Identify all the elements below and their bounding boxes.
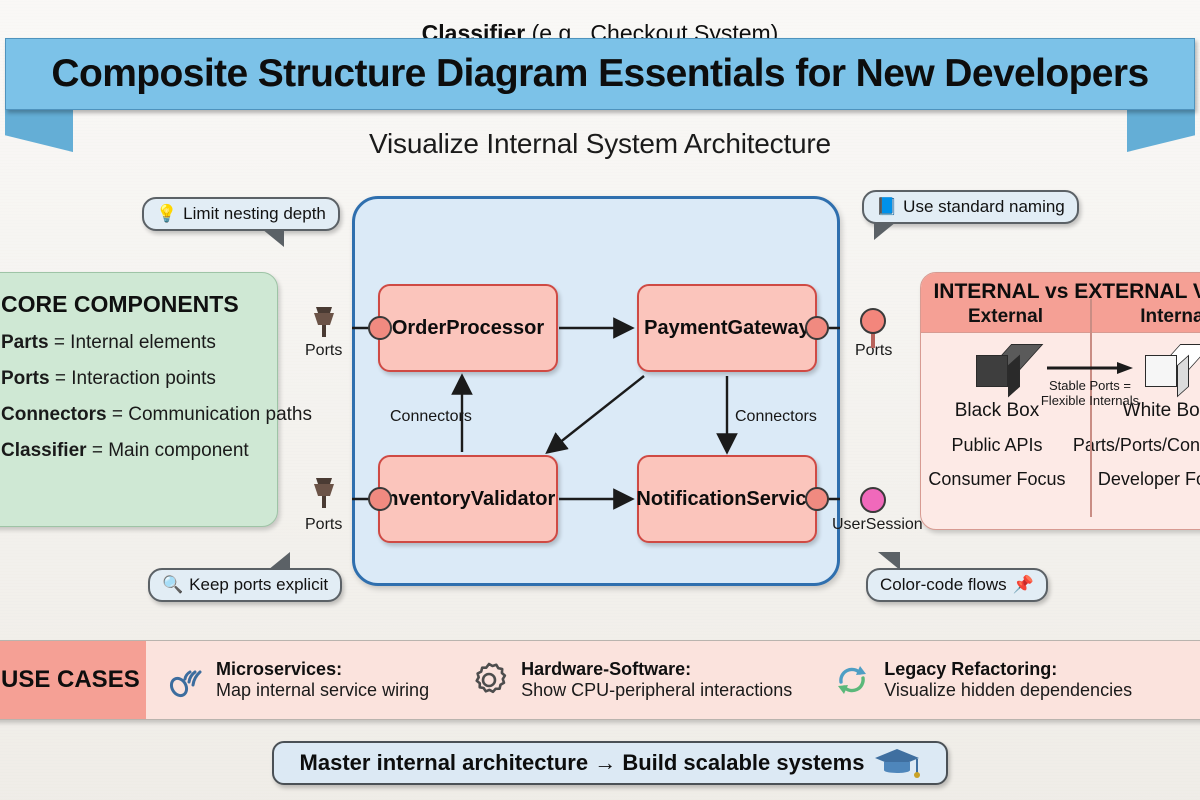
electric-plug-icon	[310, 305, 338, 339]
electric-plug-icon	[310, 476, 338, 510]
core-component-row: Classifier = Main component	[1, 440, 263, 462]
gear-icon	[469, 660, 509, 700]
part-label: InventoryValidator	[381, 488, 556, 511]
use-case-heading: Legacy Refactoring:	[884, 659, 1132, 680]
callout-use-standard-naming[interactable]: 📘 Use standard naming	[862, 190, 1079, 224]
cta-banner[interactable]: Master internal architecture → Build sca…	[272, 741, 948, 785]
core-component-row: Connectors = Communication paths	[1, 404, 263, 426]
use-case-heading: Hardware-Software:	[521, 659, 792, 680]
stable-ports-note-line1: Stable Ports =	[1020, 379, 1160, 394]
callout-color-code-flows[interactable]: Color-code flows 📌	[866, 568, 1048, 602]
push-pin-icon: 📌	[1013, 575, 1034, 595]
external-port-right-top[interactable]	[860, 308, 886, 334]
core-components-panel: CORE COMPONENTS Parts = Internal element…	[0, 272, 278, 527]
page-title: Composite Structure Diagram Essentials f…	[51, 52, 1148, 96]
core-term-parts: Parts	[1, 332, 49, 353]
callout-text: Limit nesting depth	[183, 204, 326, 224]
core-components-title: CORE COMPONENTS	[1, 291, 263, 318]
callout-limit-nesting-depth[interactable]: 💡 Limit nesting depth	[142, 197, 340, 231]
callout-keep-ports-explicit[interactable]: 🔍 Keep ports explicit	[148, 568, 342, 602]
callout-text: Keep ports explicit	[189, 575, 328, 595]
use-case-text: Hardware-Software: Show CPU-peripheral i…	[521, 659, 792, 701]
views-panel-body: Stable Ports = Flexible Internals Black …	[921, 333, 1200, 523]
use-case-subtext: Map internal service wiring	[216, 680, 429, 701]
stable-ports-note-line2: Flexible Internals	[1020, 394, 1160, 409]
part-inventoryvalidator[interactable]: InventoryValidator	[378, 455, 558, 543]
core-term-ports: Ports	[1, 368, 50, 389]
part-notificationservice[interactable]: NotificationService	[637, 455, 817, 543]
use-case-item-hardware-software[interactable]: Hardware-Software: Show CPU-peripheral i…	[469, 659, 792, 701]
magnifier-icon: 🔍	[162, 575, 183, 595]
views-panel-title: INTERNAL vs EXTERNAL VIEW	[921, 280, 1200, 304]
core-def-parts: = Internal elements	[54, 332, 216, 353]
core-def-classifier: = Main component	[92, 440, 249, 461]
callout-text: Color-code flows	[880, 575, 1007, 595]
page-subtitle: Visualize Internal System Architecture	[0, 128, 1200, 160]
core-def-connectors: = Communication paths	[112, 404, 312, 425]
views-heading-external: External	[921, 306, 1090, 328]
core-term-connectors: Connectors	[1, 404, 107, 425]
port-caption-left-bottom: Ports	[305, 516, 342, 534]
port-dot-icon-notificationservice[interactable]	[805, 487, 829, 511]
external-port-usersession[interactable]	[860, 487, 886, 513]
part-label: OrderProcessor	[392, 317, 544, 340]
use-case-item-microservices[interactable]: Microservices: Map internal service wiri…	[164, 659, 429, 701]
core-def-ports: = Interaction points	[55, 368, 216, 389]
recycle-arrows-icon	[832, 660, 872, 700]
cta-text: Master internal architecture → Build sca…	[300, 750, 865, 776]
light-bulb-icon: 💡	[156, 204, 177, 224]
part-label: PaymentGateway	[644, 317, 810, 340]
views-row-external-2: Consumer Focus	[921, 469, 1073, 490]
port-dot-icon-inventoryvalidator[interactable]	[368, 487, 392, 511]
port-caption-usersession: UserSession	[832, 516, 923, 534]
black-box-cube-icon	[974, 345, 1020, 391]
use-cases-label-block: USE CASES	[0, 641, 146, 719]
port-dot-icon-paymentgateway[interactable]	[805, 316, 829, 340]
use-case-subtext: Show CPU-peripheral interactions	[521, 680, 792, 701]
core-component-row: Ports = Interaction points	[1, 368, 263, 390]
internal-external-views-panel: INTERNAL vs EXTERNAL VIEW External Inter…	[920, 272, 1200, 530]
use-case-text: Microservices: Map internal service wiri…	[216, 659, 429, 701]
views-row-internal-2: Developer Focus	[1073, 469, 1200, 490]
open-book-icon: 📘	[876, 197, 897, 217]
stable-ports-arrow-icon	[1045, 361, 1135, 375]
views-column-headings: External Internal	[921, 306, 1200, 328]
use-cases-items: Microservices: Map internal service wiri…	[146, 641, 1200, 719]
port-caption-left-top: Ports	[305, 342, 342, 360]
callout-text: Use standard naming	[903, 197, 1065, 217]
views-heading-internal: Internal	[1090, 306, 1200, 328]
use-cases-bar: USE CASES Microservices: Map internal se…	[0, 640, 1200, 720]
connector-label-left: Connectors	[390, 408, 472, 426]
use-case-item-legacy-refactoring[interactable]: Legacy Refactoring: Visualize hidden dep…	[832, 659, 1132, 701]
part-paymentgateway[interactable]: PaymentGateway	[637, 284, 817, 372]
connector-label-right: Connectors	[735, 408, 817, 426]
part-orderprocessor[interactable]: OrderProcessor	[378, 284, 558, 372]
core-component-row: Parts = Internal elements	[1, 332, 263, 354]
title-banner: Composite Structure Diagram Essentials f…	[5, 38, 1195, 110]
pin-stem	[871, 332, 875, 348]
use-case-subtext: Visualize hidden dependencies	[884, 680, 1132, 701]
core-term-classifier: Classifier	[1, 440, 87, 461]
use-cases-title: USE CASES	[1, 666, 140, 694]
views-panel-header: INTERNAL vs EXTERNAL VIEW External Inter…	[921, 273, 1200, 333]
use-case-heading: Microservices:	[216, 659, 429, 680]
views-row-internal-1: Parts/Ports/Connectors	[1073, 435, 1200, 456]
stable-ports-note: Stable Ports = Flexible Internals	[1020, 379, 1160, 409]
use-case-text: Legacy Refactoring: Visualize hidden dep…	[884, 659, 1132, 701]
wireless-signal-icon	[164, 660, 204, 700]
views-row-external-1: Public APIs	[921, 435, 1073, 456]
part-label: NotificationService	[636, 488, 817, 511]
port-dot-icon-orderprocessor[interactable]	[368, 316, 392, 340]
graduation-cap-icon	[874, 746, 920, 780]
